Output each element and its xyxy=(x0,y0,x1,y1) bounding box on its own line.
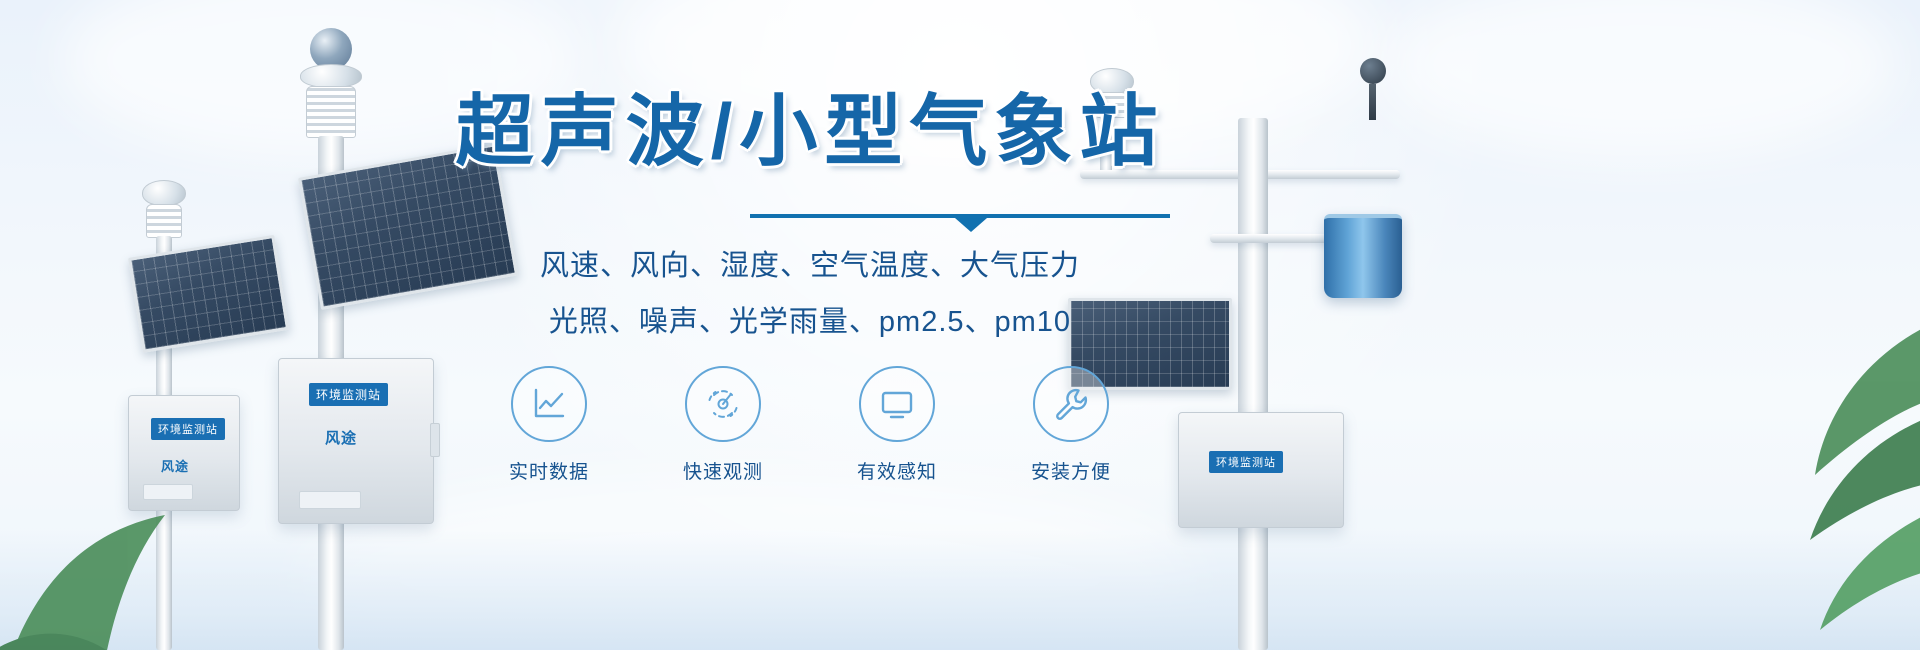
feature-list: 实时数据 快速观测 xyxy=(430,366,1190,484)
cabinet-label: 环境监测站 xyxy=(309,383,388,406)
triangle-down-icon xyxy=(955,218,987,232)
feature-item-fast-observation[interactable]: 快速观测 xyxy=(667,366,779,484)
product-banner: 环境监测站 风途 环境监测站 风途 环境监测站 xyxy=(0,0,1920,650)
main-mast-pole xyxy=(1238,118,1268,650)
enclosure-cabinet: 环境监测站 风途 xyxy=(278,358,434,524)
feature-label: 实时数据 xyxy=(493,457,605,484)
radiation-shield-icon xyxy=(142,180,186,206)
optical-rain-gauge xyxy=(1324,214,1402,298)
radar-scan-icon xyxy=(685,366,761,442)
line-chart-icon xyxy=(511,366,587,442)
palm-leaf-decoration-right xyxy=(1640,300,1920,650)
cabinet-vent xyxy=(299,491,361,509)
cabinet-label: 环境监测站 xyxy=(1209,451,1283,473)
brand-mark: 风途 xyxy=(325,427,357,448)
radiation-shield-stack xyxy=(306,86,356,138)
feature-label: 快速观测 xyxy=(667,457,779,484)
banner-content: 超声波/小型气象站 风速、风向、湿度、空气温度、大气压力 光照、噪声、光学雨量、… xyxy=(430,92,1190,484)
feature-item-realtime-data[interactable]: 实时数据 xyxy=(493,366,605,484)
sensor-stack xyxy=(146,204,182,238)
title-divider xyxy=(430,206,1190,224)
feature-label: 安装方便 xyxy=(1015,457,1127,484)
sensor-cap xyxy=(300,64,362,88)
wind-vane-icon xyxy=(1360,58,1386,120)
wrench-icon xyxy=(1033,366,1109,442)
subtitle-line-2: 光照、噪声、光学雨量、pm2.5、pm10 xyxy=(430,298,1190,340)
enclosure-cabinet: 环境监测站 xyxy=(1178,412,1344,528)
palm-leaf-decoration xyxy=(0,330,250,650)
page-title: 超声波/小型气象站 xyxy=(430,92,1190,172)
cloud-decoration xyxy=(1380,0,1900,160)
feature-item-effective-sensing[interactable]: 有效感知 xyxy=(841,366,953,484)
feature-item-easy-installation[interactable]: 安装方便 xyxy=(1015,366,1127,484)
subtitle-line-1: 风速、风向、湿度、空气温度、大气压力 xyxy=(430,242,1190,284)
monitor-screen-icon xyxy=(859,366,935,442)
feature-label: 有效感知 xyxy=(841,457,953,484)
